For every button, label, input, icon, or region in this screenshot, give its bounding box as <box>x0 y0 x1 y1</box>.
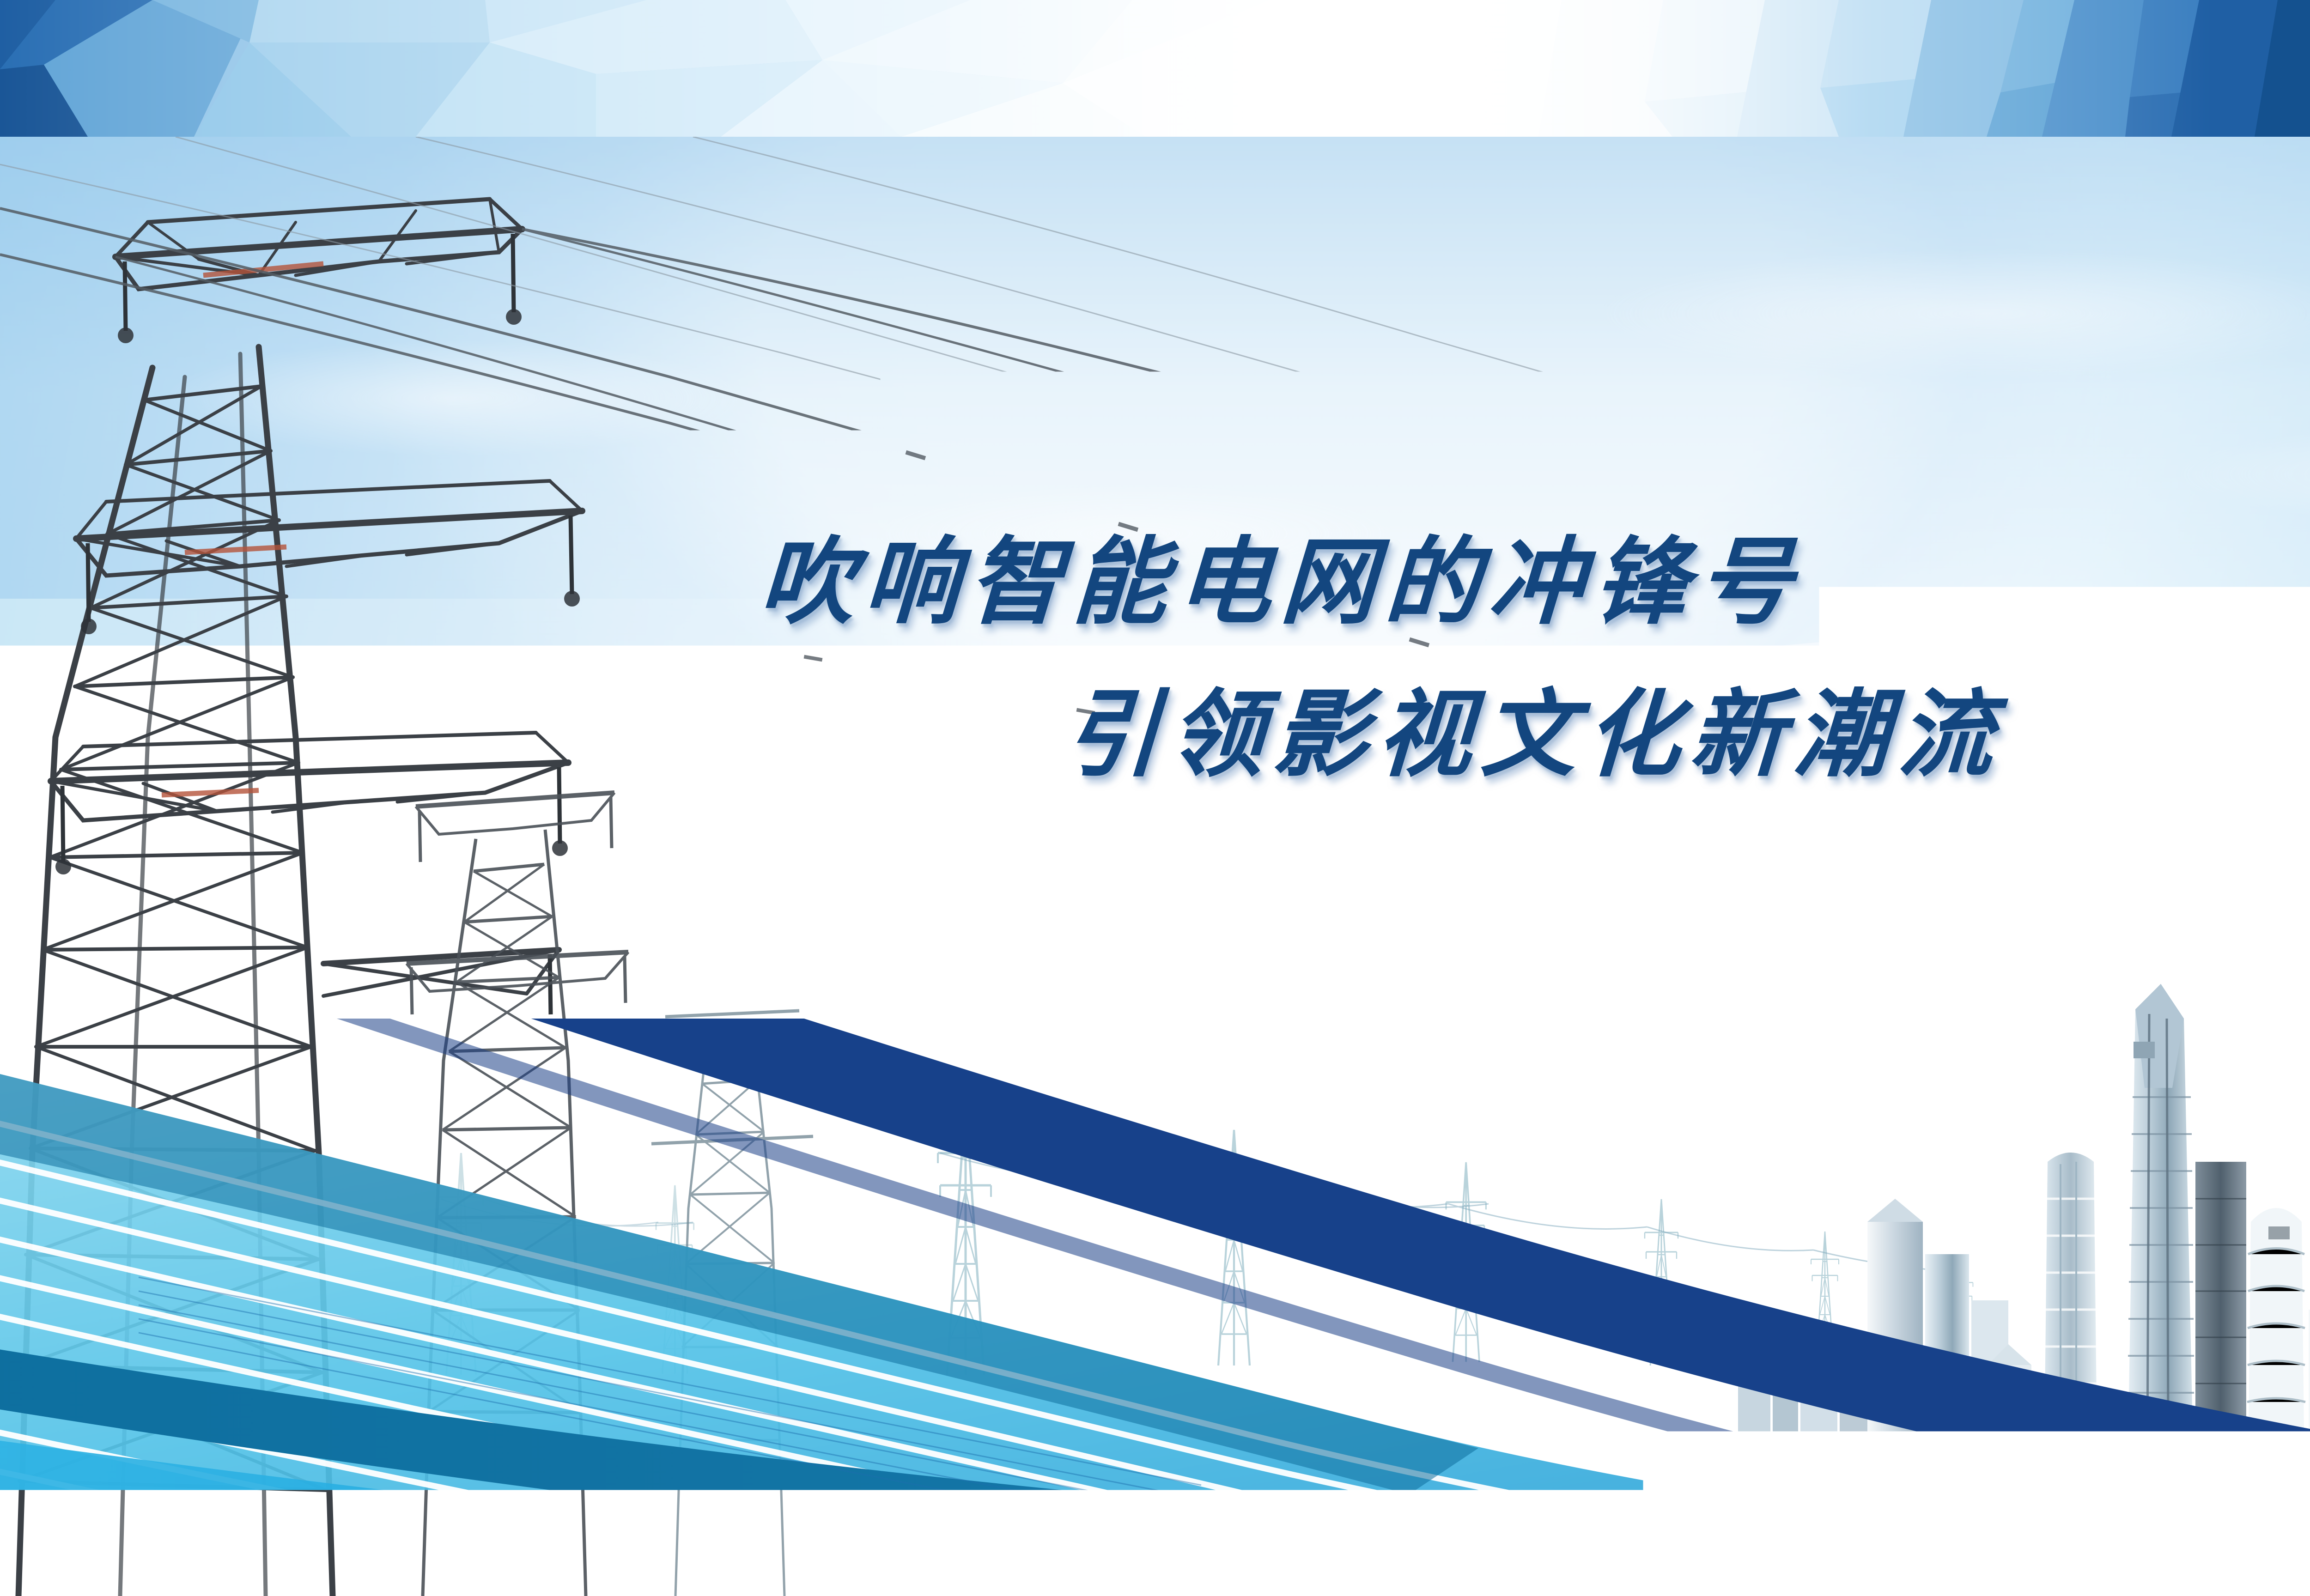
poster-canvas: CLI <box>0 0 2310 1596</box>
bottom-wave-ribbons <box>0 1019 2310 1596</box>
top-polygon-band <box>0 0 2310 137</box>
scene-photo: CLI <box>0 137 2310 1596</box>
